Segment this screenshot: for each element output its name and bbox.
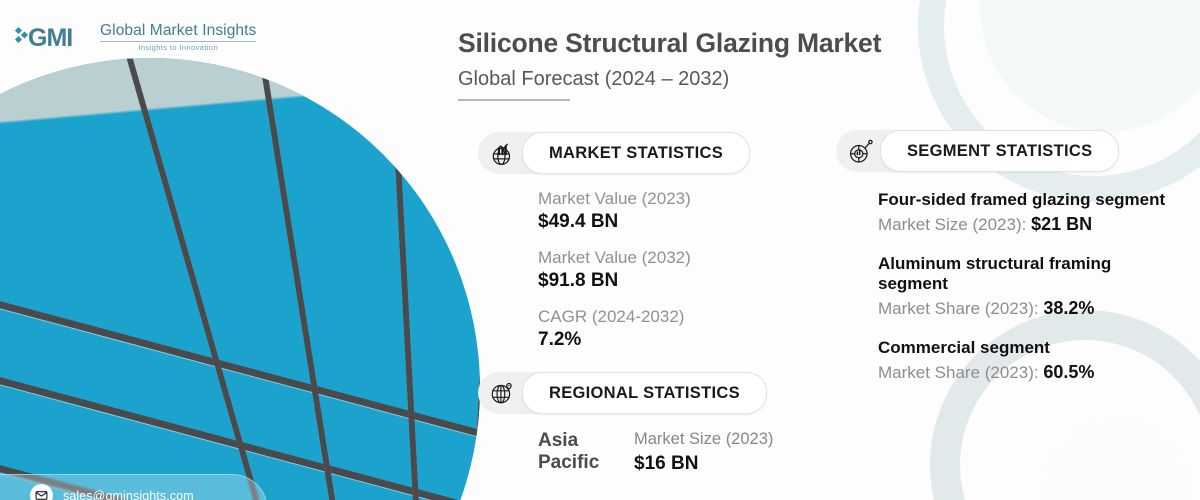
segment-metric-label: Market Size (2023): <box>878 215 1031 234</box>
stat-item: Market Value (2032) $91.8 BN <box>538 247 750 293</box>
facade-transom <box>218 58 380 500</box>
facade-transom <box>376 58 434 500</box>
segment-item: Aluminum structural framing segment Mark… <box>878 254 1168 319</box>
segment-statistics-pill[interactable]: SEGMENT STATISTICS <box>880 130 1119 172</box>
envelope-icon <box>30 484 53 500</box>
segment-metric: Market Share (2023): 38.2% <box>878 298 1168 319</box>
market-statistics-list: Market Value (2023) $49.4 BN Market Valu… <box>478 188 750 352</box>
globe-pin-icon <box>480 372 524 414</box>
segment-name: Four-sided framed glazing segment <box>878 190 1168 211</box>
regional-statistics-row: Asia Pacific Market Size (2023) $16 BN <box>478 430 773 476</box>
segment-metric: Market Share (2023): 60.5% <box>878 362 1168 383</box>
market-statistics-badge[interactable]: MARKET STATISTICS <box>478 132 750 174</box>
title-underline <box>458 99 570 101</box>
header: Silicone Structural Glazing Market Globa… <box>458 28 1098 101</box>
stat-item: Market Value (2023) $49.4 BN <box>538 188 750 234</box>
stat-item: CAGR (2024-2032) 7.2% <box>538 306 750 352</box>
segment-item: Four-sided framed glazing segment Market… <box>878 190 1168 235</box>
segment-metric-value: 60.5% <box>1043 362 1094 382</box>
globe-bar-chart-icon <box>480 132 524 174</box>
glass-facade-photo <box>0 58 480 500</box>
stat-value: $91.8 BN <box>538 269 750 293</box>
brand-logo[interactable]: GMI Global Market Insights Insights to I… <box>14 22 256 52</box>
segment-metric-value: 38.2% <box>1043 298 1094 318</box>
regional-statistics-pill[interactable]: REGIONAL STATISTICS <box>522 372 767 414</box>
page-title: Silicone Structural Glazing Market <box>458 28 1098 59</box>
brand-tagline: Insights to Innovation <box>100 44 256 52</box>
regional-statistics-panel: REGIONAL STATISTICS Asia Pacific Market … <box>478 372 773 476</box>
contact-email-text: sales@gminsights.com <box>63 489 194 500</box>
stat-value: $49.4 BN <box>538 210 750 234</box>
segment-metric: Market Size (2023): $21 BN <box>878 214 1168 235</box>
segment-statistics-badge[interactable]: SEGMENT STATISTICS <box>836 130 1119 172</box>
region-metric-value: $16 BN <box>634 452 773 476</box>
segment-statistics-list: Four-sided framed glazing segment Market… <box>836 190 1168 383</box>
stat-value: 7.2% <box>538 328 750 352</box>
svg-text:GMI: GMI <box>28 24 72 52</box>
segment-metric-value: $21 BN <box>1031 214 1092 234</box>
contact-email-line[interactable]: sales@gminsights.com <box>30 484 267 500</box>
stat-label: CAGR (2024-2032) <box>538 306 750 327</box>
regional-statistics-label: REGIONAL STATISTICS <box>549 384 740 403</box>
segment-statistics-label: SEGMENT STATISTICS <box>907 142 1092 161</box>
gmi-diamond-logo-icon: GMI <box>14 22 92 52</box>
market-statistics-label: MARKET STATISTICS <box>549 144 723 163</box>
market-statistics-panel: MARKET STATISTICS Market Value (2023) $4… <box>478 132 750 352</box>
market-statistics-pill[interactable]: MARKET STATISTICS <box>522 132 750 174</box>
segment-statistics-panel: SEGMENT STATISTICS Four-sided framed gla… <box>836 130 1168 383</box>
donut-chart-pointer-icon <box>838 130 882 172</box>
regional-statistics-badge[interactable]: REGIONAL STATISTICS <box>478 372 767 414</box>
segment-name: Commercial segment <box>878 338 1168 359</box>
stat-label: Market Value (2032) <box>538 247 750 268</box>
region-metric-label: Market Size (2023) <box>634 430 773 450</box>
stat-label: Market Value (2023) <box>538 188 750 209</box>
infographic-canvas: sales@gminsights.com www.gminsights.com <box>0 0 1200 500</box>
segment-name: Aluminum structural framing segment <box>878 254 1168 295</box>
contact-pill: sales@gminsights.com www.gminsights.com <box>0 474 268 500</box>
decorative-circle-bottom-right <box>1040 416 1190 500</box>
segment-metric-label: Market Share (2023): <box>878 299 1043 318</box>
building-photo-blob: sales@gminsights.com www.gminsights.com <box>0 58 480 500</box>
region-name: Asia Pacific <box>538 430 616 475</box>
region-metric: Market Size (2023) $16 BN <box>634 430 773 476</box>
segment-metric-label: Market Share (2023): <box>878 363 1043 382</box>
brand-name: Global Market Insights <box>100 23 256 39</box>
segment-item: Commercial segment Market Share (2023): … <box>878 338 1168 383</box>
logo-divider <box>100 41 256 42</box>
page-subtitle: Global Forecast (2024 – 2032) <box>458 68 1098 91</box>
